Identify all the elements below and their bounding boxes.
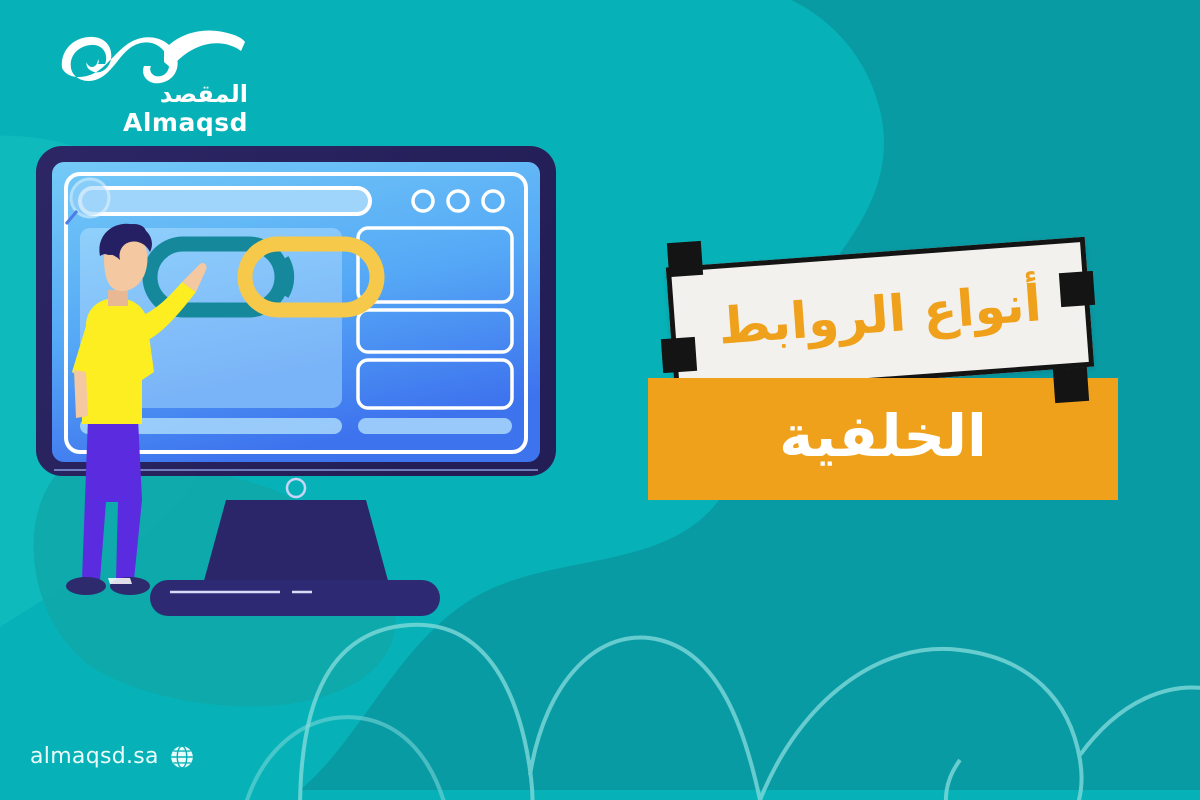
brand-logo[interactable]: المقصد Almaqsd bbox=[36, 24, 266, 134]
footer-site-label: almaqsd.sa bbox=[30, 746, 159, 768]
corner-bracket-top-right bbox=[1059, 271, 1095, 307]
brand-name-arabic: المقصد bbox=[160, 82, 248, 106]
title-line-2: الخلفية bbox=[779, 407, 987, 471]
title-line-1: أنواع الروابط bbox=[717, 278, 1044, 356]
monitor-illustration bbox=[30, 140, 590, 640]
person-neck bbox=[108, 290, 128, 306]
corner-bracket-top-left bbox=[667, 241, 703, 277]
title-banner-primary: أنواع الروابط bbox=[666, 237, 1094, 397]
person-pants bbox=[82, 418, 142, 580]
wave-swoosh-logo-icon bbox=[56, 24, 246, 86]
corner-bracket-bottom-right bbox=[1053, 367, 1089, 403]
monitor-stand-base bbox=[150, 580, 440, 616]
content-footer-bar-right bbox=[358, 418, 512, 434]
brand-name-english: Almaqsd bbox=[123, 110, 248, 135]
poster-canvas: المقصد Almaqsd bbox=[0, 0, 1200, 800]
person-arm-left bbox=[74, 370, 88, 418]
globe-icon bbox=[169, 744, 195, 770]
footer-website[interactable]: almaqsd.sa bbox=[30, 744, 195, 770]
webcam-dot bbox=[287, 479, 305, 497]
chain-overlap-accent bbox=[282, 260, 287, 294]
browser-search-bar[interactable] bbox=[80, 188, 370, 214]
person-shoe-left bbox=[66, 577, 106, 595]
title-group: الخلفية أنواع الروابط bbox=[640, 230, 1140, 520]
monitor-stand-neck bbox=[202, 500, 390, 588]
title-banner-secondary: الخلفية bbox=[648, 378, 1118, 500]
corner-bracket-bottom-left bbox=[661, 337, 697, 373]
